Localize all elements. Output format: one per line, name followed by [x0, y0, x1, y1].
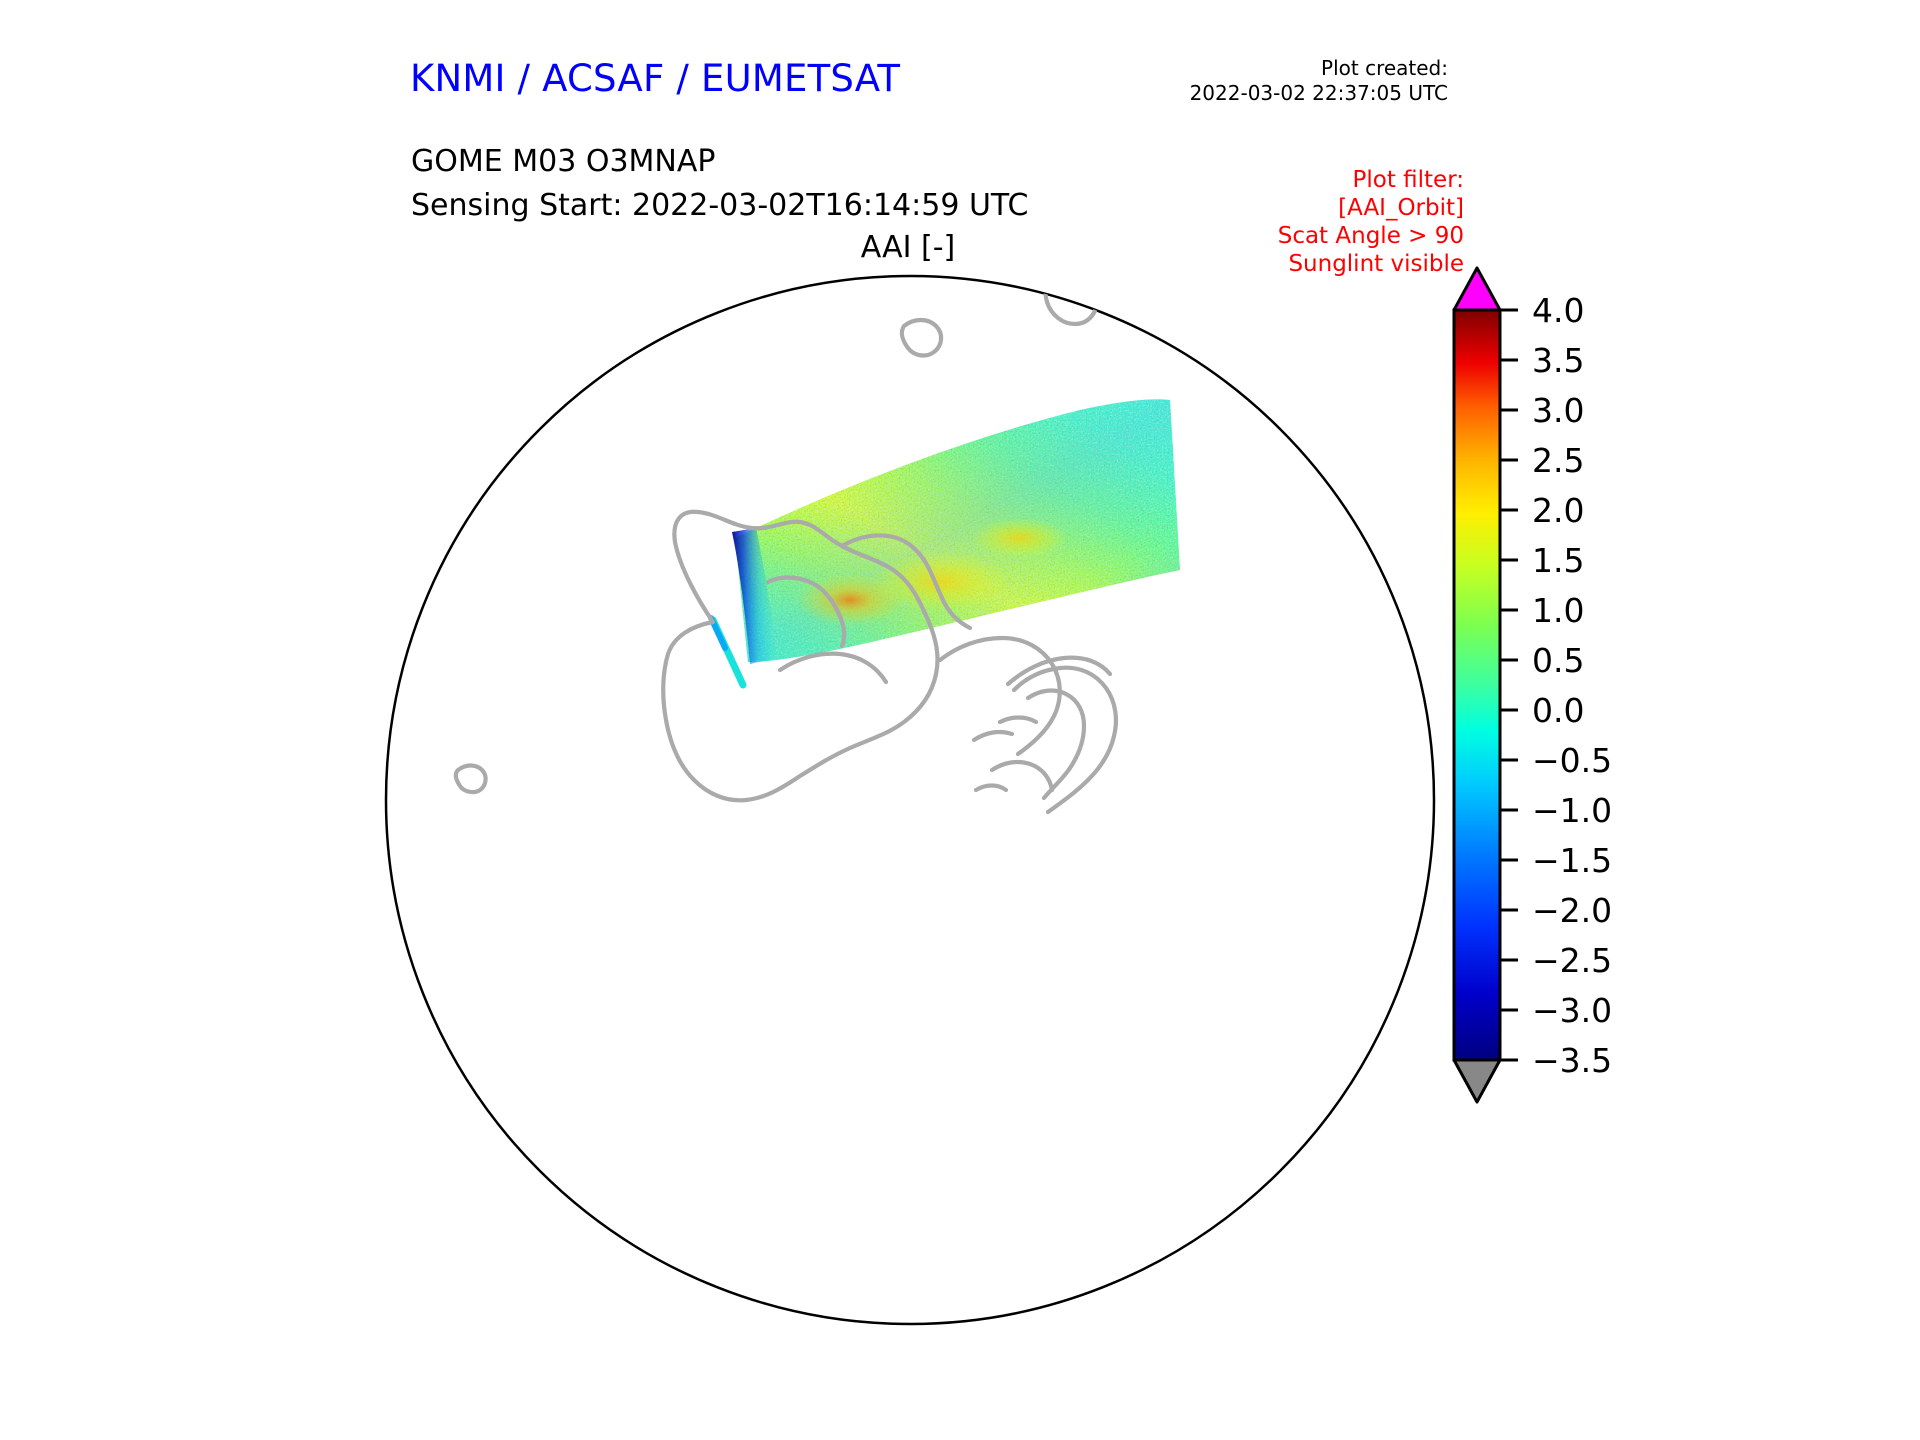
colorbar-tick-label: 1.5 — [1532, 541, 1584, 580]
map-plot-area[interactable] — [380, 270, 1440, 1330]
plot-filter-block: Plot filter: [AAI_Orbit] Scat Angle > 90… — [1278, 166, 1464, 278]
colorbar-tick-label: −2.0 — [1532, 891, 1612, 930]
plot-created-block: Plot created: 2022-03-02 22:37:05 UTC — [1190, 56, 1448, 106]
colorbar-tick-label: 2.0 — [1532, 491, 1584, 530]
agency-title: KNMI / ACSAF / EUMETSAT — [410, 57, 900, 100]
colorbar-under-arrow — [1454, 1060, 1500, 1102]
plot-filter-line-0: [AAI_Orbit] — [1278, 194, 1464, 222]
colorbar[interactable]: 4.03.53.02.52.01.51.00.50.0−0.5−1.0−1.5−… — [1442, 280, 1762, 1300]
colorbar-tick-label: 0.5 — [1532, 641, 1584, 680]
sensing-start-line: Sensing Start: 2022-03-02T16:14:59 UTC — [411, 184, 1028, 228]
colorbar-tick-label: 3.0 — [1532, 391, 1584, 430]
colorbar-tick-label: 2.5 — [1532, 441, 1584, 480]
colorbar-tick-label: −1.5 — [1532, 841, 1612, 880]
plot-created-timestamp: 2022-03-02 22:37:05 UTC — [1190, 81, 1448, 106]
colorbar-tick-label: −3.5 — [1532, 1041, 1612, 1080]
colorbar-tick-label: −0.5 — [1532, 741, 1612, 780]
colorbar-tick-label: 3.5 — [1532, 341, 1584, 380]
globe-outline — [386, 276, 1434, 1324]
colorbar-tick-label: 4.0 — [1532, 291, 1584, 330]
colorbar-gradient — [1454, 310, 1500, 1060]
colorbar-svg: 4.03.53.02.52.01.51.00.50.0−0.5−1.0−1.5−… — [1442, 280, 1762, 1300]
plot-filter-title: Plot filter: — [1278, 166, 1464, 194]
colorbar-tick-label: 0.0 — [1532, 691, 1584, 730]
colorbar-tick-label: −2.5 — [1532, 941, 1612, 980]
colorbar-tick-label: −1.0 — [1532, 791, 1612, 830]
instrument-product-line: GOME M03 O3MNAP — [411, 140, 1028, 184]
plot-created-label: Plot created: — [1190, 56, 1448, 81]
map-svg — [380, 270, 1440, 1330]
page-title: AAI [-] — [0, 230, 1868, 265]
colorbar-ticks: 4.03.53.02.52.01.51.00.50.0−0.5−1.0−1.5−… — [1500, 291, 1612, 1080]
colorbar-tick-label: 1.0 — [1532, 591, 1584, 630]
colorbar-tick-label: −3.0 — [1532, 991, 1612, 1030]
dataset-info-block: GOME M03 O3MNAP Sensing Start: 2022-03-0… — [411, 140, 1028, 228]
plot-filter-line-1: Scat Angle > 90 — [1278, 222, 1464, 250]
